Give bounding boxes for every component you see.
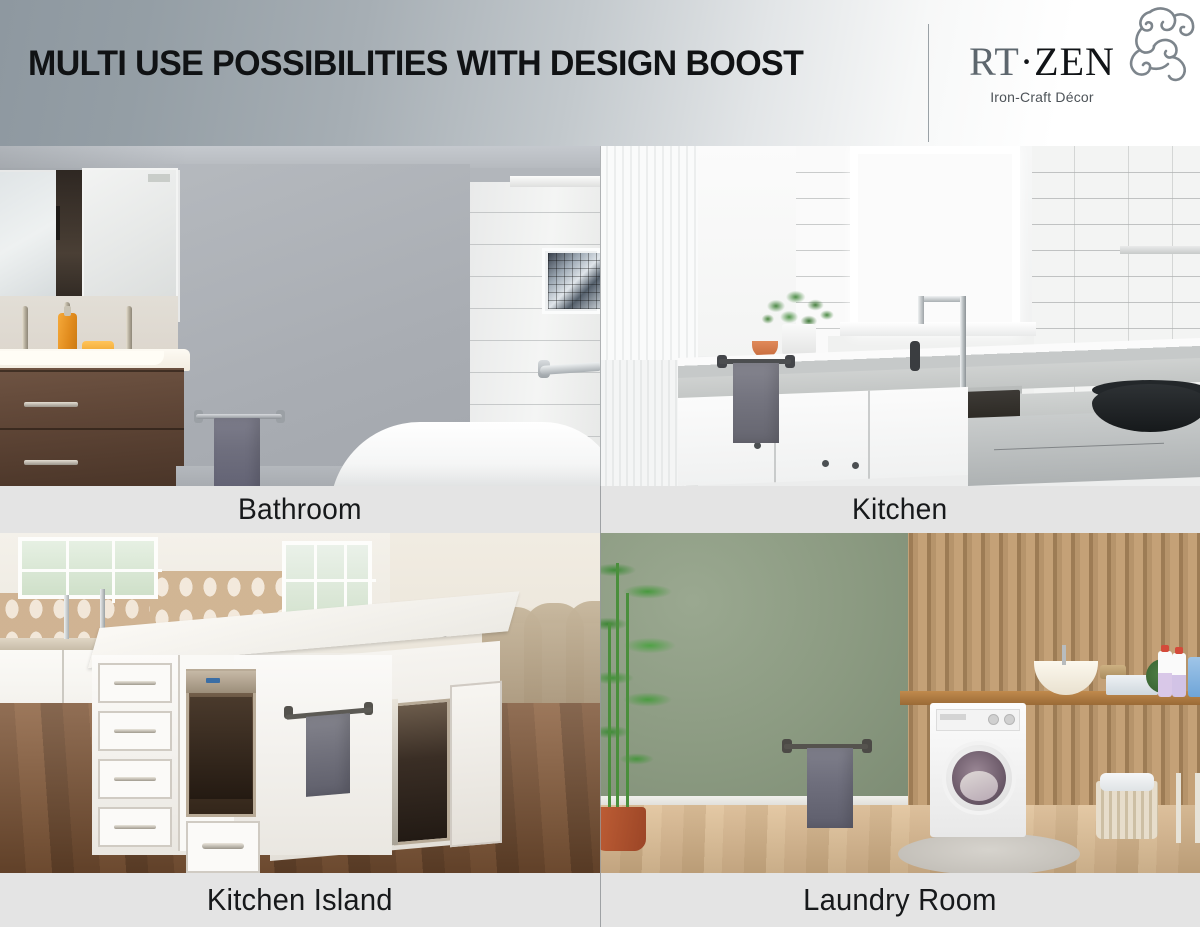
panel-grid: Bathroom Kitchen (0, 146, 1200, 927)
brand-name-rt: RT (969, 39, 1020, 84)
panel-laundry-room (600, 533, 1200, 873)
label-cell-kitchen: Kitchen (600, 486, 1200, 533)
kitchen-island-photo (0, 533, 600, 873)
bathroom-photo (0, 146, 600, 486)
laundry-room-photo (600, 533, 1200, 873)
iron-scroll-flourish-icon (1088, 0, 1200, 110)
panel-label-bathroom: Bathroom (238, 493, 362, 527)
kitchen-photo (600, 146, 1200, 486)
label-cell-laundry-room: Laundry Room (600, 873, 1200, 927)
header-divider (928, 24, 929, 142)
panel-kitchen-island (0, 533, 600, 873)
panel-bathroom (0, 146, 600, 486)
panel-label-kitchen-island: Kitchen Island (207, 882, 393, 918)
label-cell-kitchen-island: Kitchen Island (0, 873, 600, 927)
page-title: MULTI USE POSSIBILITIES WITH DESIGN BOOS… (28, 44, 803, 84)
towel-laundry-room (807, 748, 853, 828)
marketing-infographic: MULTI USE POSSIBILITIES WITH DESIGN BOOS… (0, 0, 1200, 927)
label-cell-bathroom: Bathroom (0, 486, 600, 533)
towel-bathroom (214, 418, 260, 486)
panel-label-laundry-room: Laundry Room (803, 882, 996, 918)
panel-kitchen (600, 146, 1200, 486)
towel-kitchen-island (306, 713, 350, 797)
brand-name-dot: · (1020, 39, 1034, 84)
towel-kitchen (733, 363, 779, 443)
header-banner: MULTI USE POSSIBILITIES WITH DESIGN BOOS… (0, 0, 1200, 146)
panel-label-kitchen: Kitchen (852, 493, 947, 527)
